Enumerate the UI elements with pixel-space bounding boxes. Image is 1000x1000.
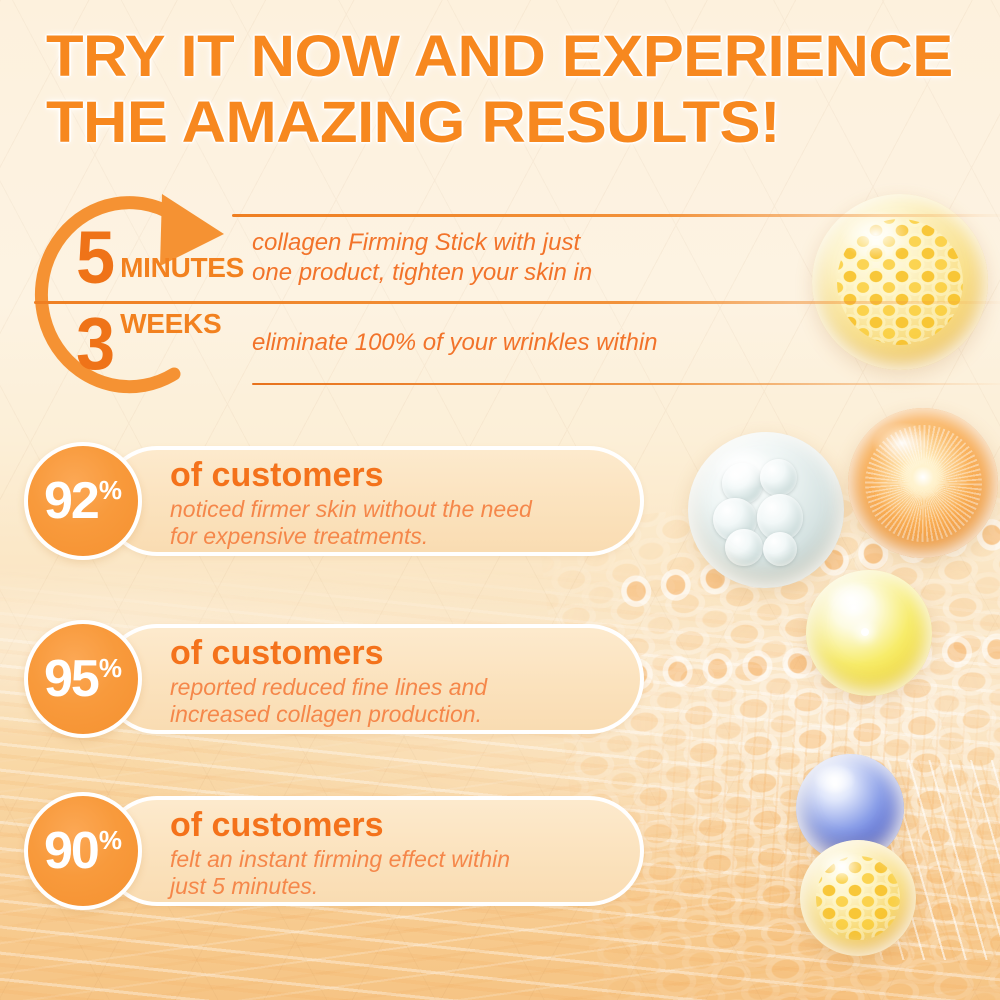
timing-description-minutes: collagen Firming Stick with just one pro… <box>252 228 592 288</box>
stat-title: of customers <box>170 634 618 672</box>
sphere-shell <box>806 570 932 696</box>
sphere-highlight <box>819 850 865 882</box>
sphere-shell <box>812 194 988 370</box>
sphere-sparkle <box>861 628 869 636</box>
stat-percent-sign: % <box>99 655 122 681</box>
sphere-core-glow <box>899 453 947 501</box>
mini-bubble <box>725 529 762 566</box>
sphere-highlight <box>713 446 775 490</box>
sphere-highlight <box>840 210 910 259</box>
stat-percent-value: 90 <box>44 825 98 877</box>
honeycomb-cells <box>816 856 900 940</box>
collagen-cell-band <box>613 508 1000 692</box>
mini-bubble <box>760 459 797 496</box>
divider-middle <box>34 301 1000 304</box>
yellow-droplet-sphere-icon <box>806 570 932 696</box>
stat-percent-sign: % <box>99 827 122 853</box>
stat-row: 90 % of customers felt an instant firmin… <box>24 792 644 910</box>
stat-row: 92 % of customers noticed firmer skin wi… <box>24 442 644 560</box>
stat-description: felt an instant firming effect within ju… <box>170 846 618 900</box>
divider-top <box>232 214 1000 217</box>
mini-bubble <box>763 532 797 566</box>
stat-title: of customers <box>170 806 618 844</box>
stat-text: of customers noticed firmer skin without… <box>170 456 618 550</box>
honeycomb-sphere-top-icon <box>812 194 988 370</box>
stat-row: 95 % of customers reported reduced fine … <box>24 620 644 738</box>
timing-unit-minutes: MINUTES <box>120 252 244 284</box>
timing-row-minutes: 5 MINUTES <box>76 224 244 292</box>
sphere-shell <box>800 840 916 956</box>
stat-percent-value: 92 <box>44 475 98 527</box>
stat-text: of customers reported reduced fine lines… <box>170 634 618 728</box>
stat-badge-percent: 92 % <box>24 442 142 560</box>
honeycomb-cells <box>837 219 964 346</box>
collagen-cell-band-secondary <box>616 625 1000 774</box>
timing-unit-weeks: WEEKS <box>120 308 221 340</box>
promo-poster: TRY IT NOW AND EXPERIENCE THE AMAZING RE… <box>0 0 1000 1000</box>
sphere-highlight <box>826 581 876 616</box>
blue-sphere-icon <box>796 754 904 862</box>
radial-rays <box>865 425 982 542</box>
honeycomb-sphere-bottom-icon <box>800 840 916 956</box>
sphere-shell <box>848 408 998 558</box>
silk-streak-texture <box>840 760 1000 960</box>
headline: TRY IT NOW AND EXPERIENCE THE AMAZING RE… <box>46 32 946 148</box>
sphere-highlight <box>813 764 856 794</box>
stat-text: of customers felt an instant firming eff… <box>170 806 618 900</box>
sphere-highlight <box>872 422 932 464</box>
stat-description: noticed firmer skin without the need for… <box>170 496 618 550</box>
timing-description-weeks: eliminate 100% of your wrinkles within <box>252 328 658 358</box>
divider-bottom <box>252 383 1000 385</box>
mini-bubble <box>722 463 763 504</box>
timing-block: 5 MINUTES 3 WEEKS collagen Firming Stick… <box>24 188 724 388</box>
sphere-shell <box>688 432 844 588</box>
headline-line-1: TRY IT NOW AND EXPERIENCE <box>46 32 1000 82</box>
sphere-shell <box>796 754 904 862</box>
stat-badge-percent: 95 % <box>24 620 142 738</box>
stat-description: reported reduced fine lines and increase… <box>170 674 618 728</box>
timing-row-weeks: 3 WEEKS <box>76 310 221 378</box>
timing-number-minutes: 5 <box>76 224 115 292</box>
stat-title: of customers <box>170 456 618 494</box>
bubble-cluster-sphere-icon <box>688 432 844 588</box>
mini-bubble <box>757 494 804 541</box>
stat-percent-value: 95 <box>44 653 98 705</box>
timing-number-weeks: 3 <box>76 310 115 378</box>
stat-badge-percent: 90 % <box>24 792 142 910</box>
mini-bubble <box>713 498 757 542</box>
orange-radial-sphere-icon <box>848 408 998 558</box>
stat-percent-sign: % <box>99 477 122 503</box>
collagen-fiber-texture <box>640 690 1000 920</box>
headline-line-2: THE AMAZING RESULTS! <box>46 98 1000 148</box>
